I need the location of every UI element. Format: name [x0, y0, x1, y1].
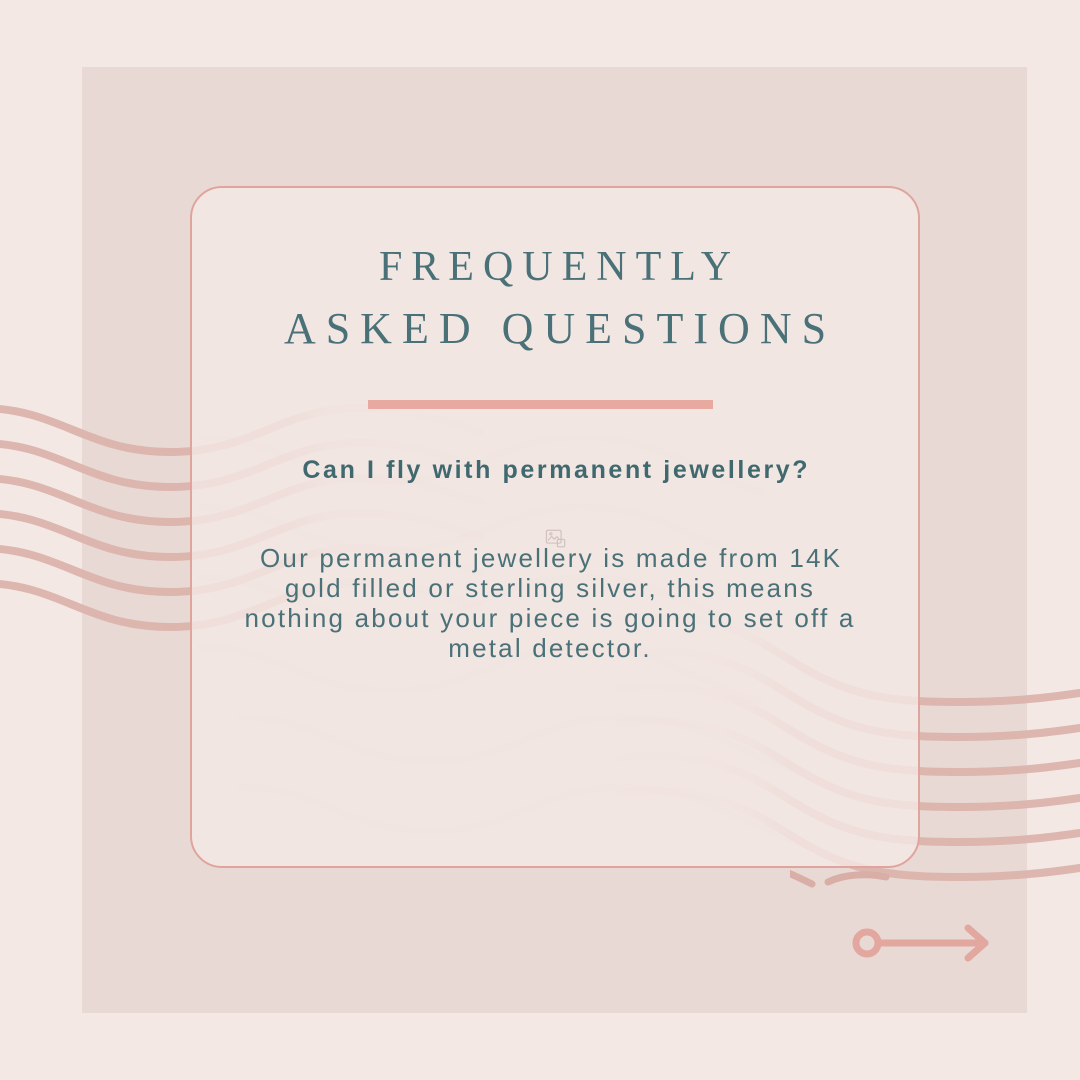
- page-title: FREQUENTLY ASKED QUESTIONS: [190, 236, 920, 360]
- faq-graphic: FREQUENTLY ASKED QUESTIONS Can I fly wit…: [0, 0, 1080, 1080]
- broken-image-icon: [545, 528, 567, 550]
- title-divider: [368, 400, 713, 409]
- faq-answer: Our permanent jewellery is made from 14K…: [240, 543, 860, 663]
- title-line-2: ASKED QUESTIONS: [190, 298, 920, 360]
- faq-question: Can I fly with permanent jewellery?: [230, 455, 880, 486]
- title-line-1: FREQUENTLY: [190, 236, 920, 298]
- circle-arrow-right-icon: [850, 920, 998, 966]
